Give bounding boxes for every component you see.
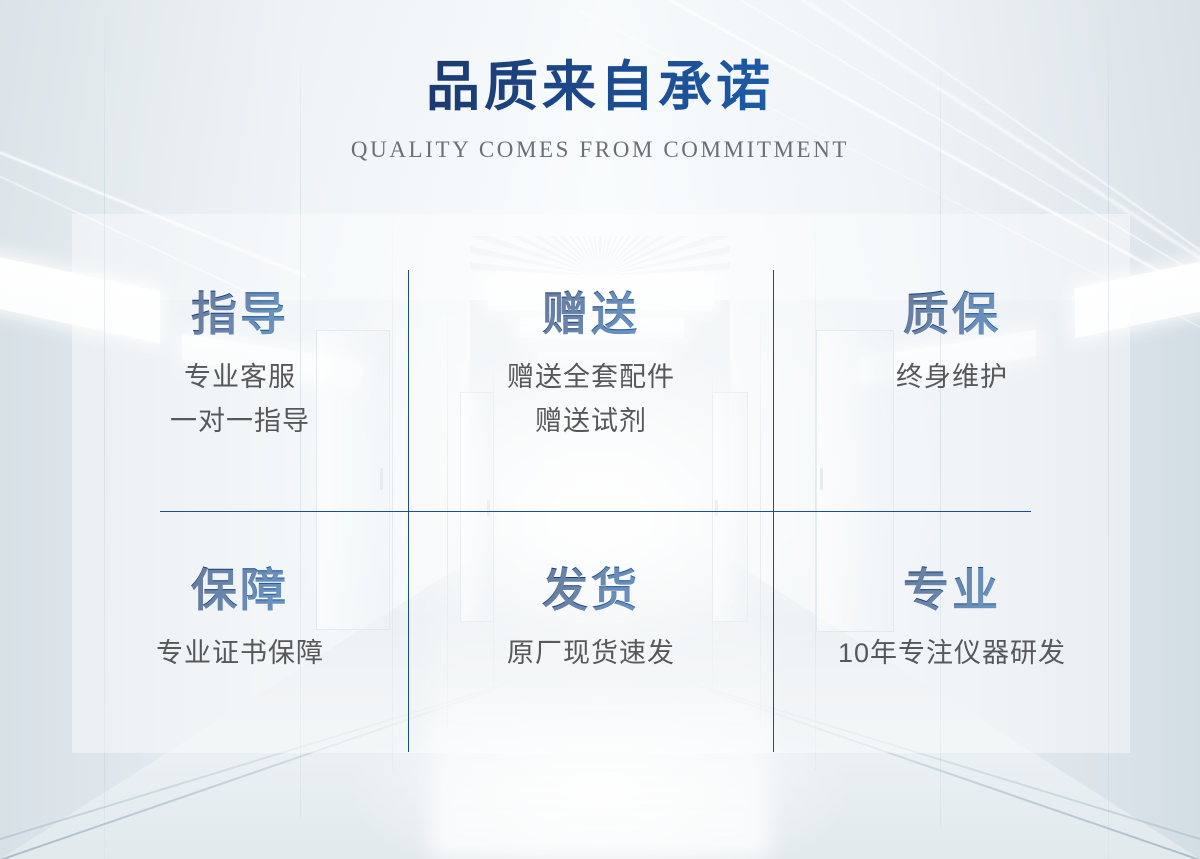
feature-description: 专业证书保障 (72, 632, 408, 676)
promo-banner: 品质来自承诺 QUALITY COMES FROM COMMITMENT 指导 … (0, 0, 1200, 859)
feature-desc-line: 原厂现货速发 (409, 632, 773, 676)
feature-desc-line: 赠送试剂 (409, 400, 773, 444)
feature-desc-line: 赠送全套配件 (409, 356, 773, 400)
feature-desc-line: 一对一指导 (72, 400, 408, 444)
feature-title: 保障 (72, 566, 408, 614)
feature-title: 赠送 (409, 290, 773, 338)
page-title: 品质来自承诺 (0, 58, 1200, 117)
feature-title: 质保 (774, 290, 1130, 338)
divider-horizontal (160, 511, 1031, 512)
feature-desc-line: 10年专注仪器研发 (774, 632, 1130, 676)
feature-cell-gift: 赠送 赠送全套配件 赠送试剂 (409, 290, 773, 444)
feature-title: 专业 (774, 566, 1130, 614)
feature-description: 原厂现货速发 (409, 632, 773, 676)
feature-cell-expertise: 专业 10年专注仪器研发 (774, 566, 1130, 676)
feature-cell-warranty: 质保 终身维护 (774, 290, 1130, 400)
feature-description: 10年专注仪器研发 (774, 632, 1130, 676)
page-subtitle: QUALITY COMES FROM COMMITMENT (0, 137, 1200, 163)
feature-cell-guidance: 指导 专业客服 一对一指导 (72, 290, 408, 444)
feature-description: 专业客服 一对一指导 (72, 356, 408, 443)
feature-cell-assurance: 保障 专业证书保障 (72, 566, 408, 676)
header: 品质来自承诺 QUALITY COMES FROM COMMITMENT (0, 58, 1200, 163)
feature-description: 赠送全套配件 赠送试剂 (409, 356, 773, 443)
feature-desc-line: 专业证书保障 (72, 632, 408, 676)
feature-description: 终身维护 (774, 356, 1130, 400)
feature-title: 指导 (72, 290, 408, 338)
feature-grid: 指导 专业客服 一对一指导 赠送 赠送全套配件 赠送试剂 质保 终身维护 保障 … (72, 248, 1130, 753)
feature-desc-line: 专业客服 (72, 356, 408, 400)
feature-title: 发货 (409, 566, 773, 614)
feature-cell-shipping: 发货 原厂现货速发 (409, 566, 773, 676)
feature-desc-line: 终身维护 (774, 356, 1130, 400)
